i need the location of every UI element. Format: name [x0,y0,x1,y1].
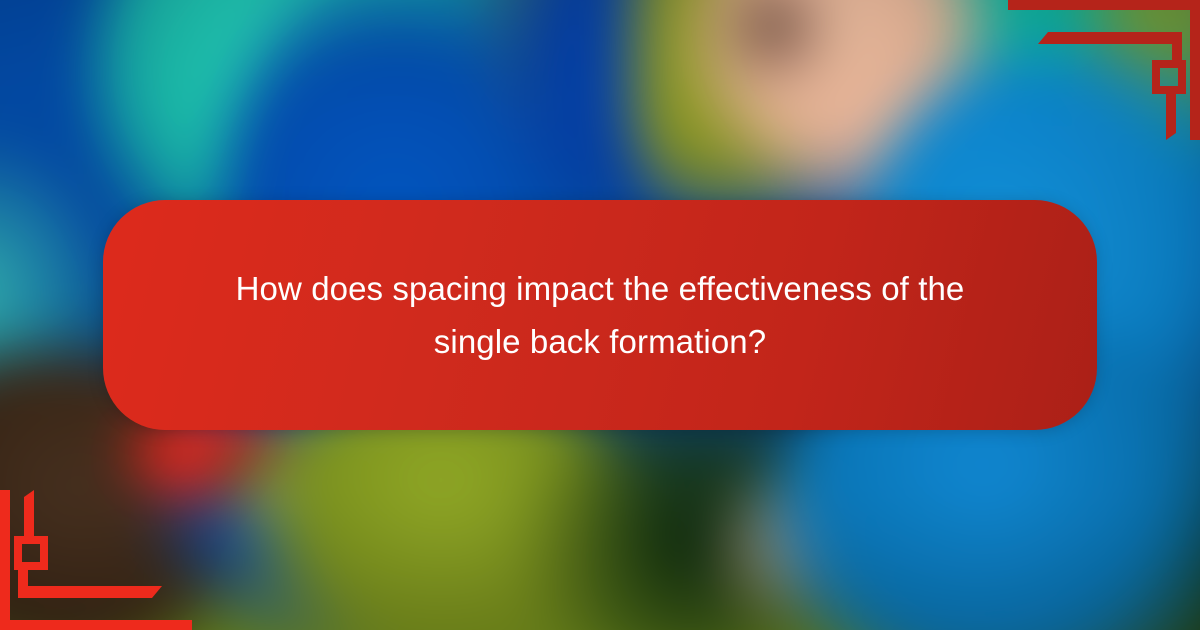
question-text: How does spacing impact the effectivenes… [150,262,1050,369]
question-card: How does spacing impact the effectivenes… [103,200,1097,430]
social-card-canvas: How does spacing impact the effectivenes… [0,0,1200,630]
